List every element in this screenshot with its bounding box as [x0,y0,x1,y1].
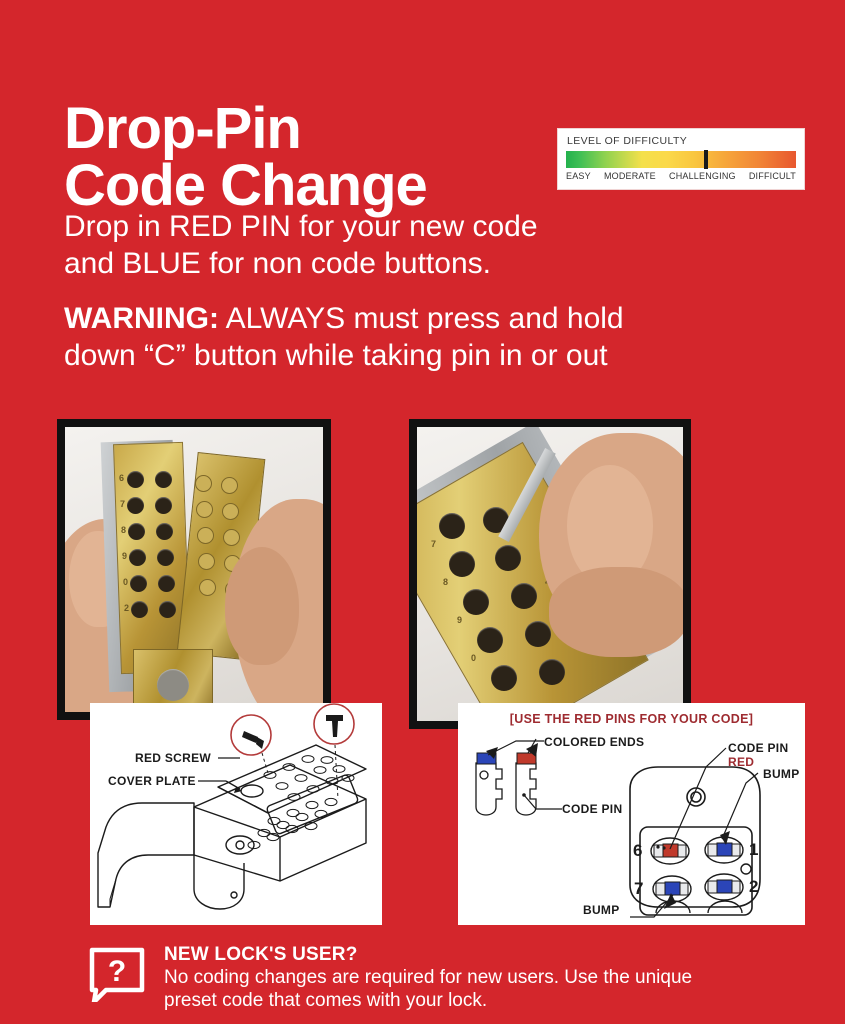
keypad-number-6: 6 [633,841,643,861]
difficulty-gradient-bar [566,151,796,168]
bump-label-top: BUMP [763,767,800,781]
photo-left-finger [225,547,299,665]
photo-left-hole [158,575,175,592]
photo-left-frame: 6 7 8 9 0 2 [57,419,331,720]
photo-left-hole [128,523,145,540]
difficulty-meter: LEVEL OF DIFFICULTY EASY MODERATE CHALLE… [557,128,805,190]
keypad-number-7: 7 [634,879,644,899]
photo-left-hole [156,523,173,540]
diagram-left-panel: RED SCREW COVER PLATE [90,703,382,925]
photo-right-hole [439,513,465,539]
warning-paragraph: WARNING: ALWAYS must press and hold down… [64,301,624,374]
photo-left-plate-hole [195,475,212,492]
photo-right-hole [495,545,521,571]
photo-left-hole [155,471,172,488]
photo-left-hole [131,601,148,618]
photo-left-hole [157,549,174,566]
photo-left-digit: 6 [119,473,124,483]
question-speech-bubble-icon: ? [88,946,146,1002]
difficulty-label-easy: EASY [566,171,591,181]
photo-left-digit: 0 [123,577,128,587]
photo-left-hole [127,497,144,514]
photo-left-digit: 2 [124,603,129,613]
photo-left-image: 6 7 8 9 0 2 [65,427,323,712]
photo-left-digit: 8 [121,525,126,535]
photo-left-plate-hole [222,503,239,520]
colored-ends-label: COLORED ENDS [544,735,644,749]
photo-right-digit: 7 [431,539,436,549]
keypad-number-2: 2 [749,877,759,897]
photo-right-finger [549,567,683,657]
photo-left-keyway [157,669,189,701]
infographic-page: Drop-Pin Code Change LEVEL OF DIFFICULTY… [0,0,845,1024]
photo-right-hole [539,659,565,685]
photo-right-hole [463,589,489,615]
difficulty-labels: EASY MODERATE CHALLENGING DIFFICULT [566,171,796,181]
photo-right-digit: 0 [471,653,476,663]
instruction-paragraph: Drop in RED PIN for your new code and BL… [64,209,538,282]
photo-left-plate-hole [221,477,238,494]
footer-body: No coding changes are required for new u… [164,966,692,1012]
photo-right-image: 7 8 9 0 4 5 [417,427,683,721]
photo-left-digit: 9 [122,551,127,561]
code-pin-red-label-line2: RED [728,755,754,769]
photo-right-hole [511,583,537,609]
diagram-right-panel: [USE THE RED PINS FOR YOUR CODE] [458,703,805,925]
photo-right-digit: 8 [443,577,448,587]
photo-left-hole [127,471,144,488]
photo-right-digit: 9 [457,615,462,625]
photo-left-hole [159,601,176,618]
keypad-number-1: 1 [749,840,759,860]
title-line-1: Drop-Pin [64,96,301,161]
footer-title: NEW LOCK'S USER? [164,944,358,966]
difficulty-label-difficult: DIFFICULT [749,171,796,181]
photo-left-plate-hole [199,579,216,596]
title-line-2: Code Change [64,158,427,215]
photo-left-plate-hole [223,529,240,546]
keypad-button-6 [651,838,689,864]
svg-text:?: ? [108,955,126,988]
photo-right-frame: 7 8 9 0 4 5 [409,419,691,729]
difficulty-meter-title: LEVEL OF DIFFICULTY [567,135,796,147]
photo-left-hole [130,575,147,592]
cover-plate-label: COVER PLATE [108,774,196,788]
difficulty-label-challenging: CHALLENGING [669,171,736,181]
photo-right-hole [491,665,517,691]
red-screw-highlight-2 [314,704,354,744]
keypad-button-2 [705,874,743,900]
code-pin-label: CODE PIN [562,802,622,816]
red-screw-highlight-1 [231,715,271,755]
photo-left-plate-hole [196,501,213,518]
photo-left-digit: 7 [120,499,125,509]
photo-left-plate-hole [197,527,214,544]
red-screw-label: RED SCREW [135,751,211,765]
bump-label-bottom: BUMP [583,903,620,917]
photo-left-plate-hole [198,553,215,570]
photo-right-hole [449,551,475,577]
keypad-indicator-dot [741,864,751,874]
difficulty-label-moderate: MODERATE [604,171,656,181]
warning-keyword: WARNING: [64,302,219,335]
photo-right-hole [525,621,551,647]
difficulty-marker [704,150,708,169]
code-pin-red-label-line1: CODE PIN [728,741,788,755]
photo-left-hole [155,497,172,514]
diagram-left-drawing [90,703,382,925]
photo-right-hole [477,627,503,653]
photo-left-hole [129,549,146,566]
